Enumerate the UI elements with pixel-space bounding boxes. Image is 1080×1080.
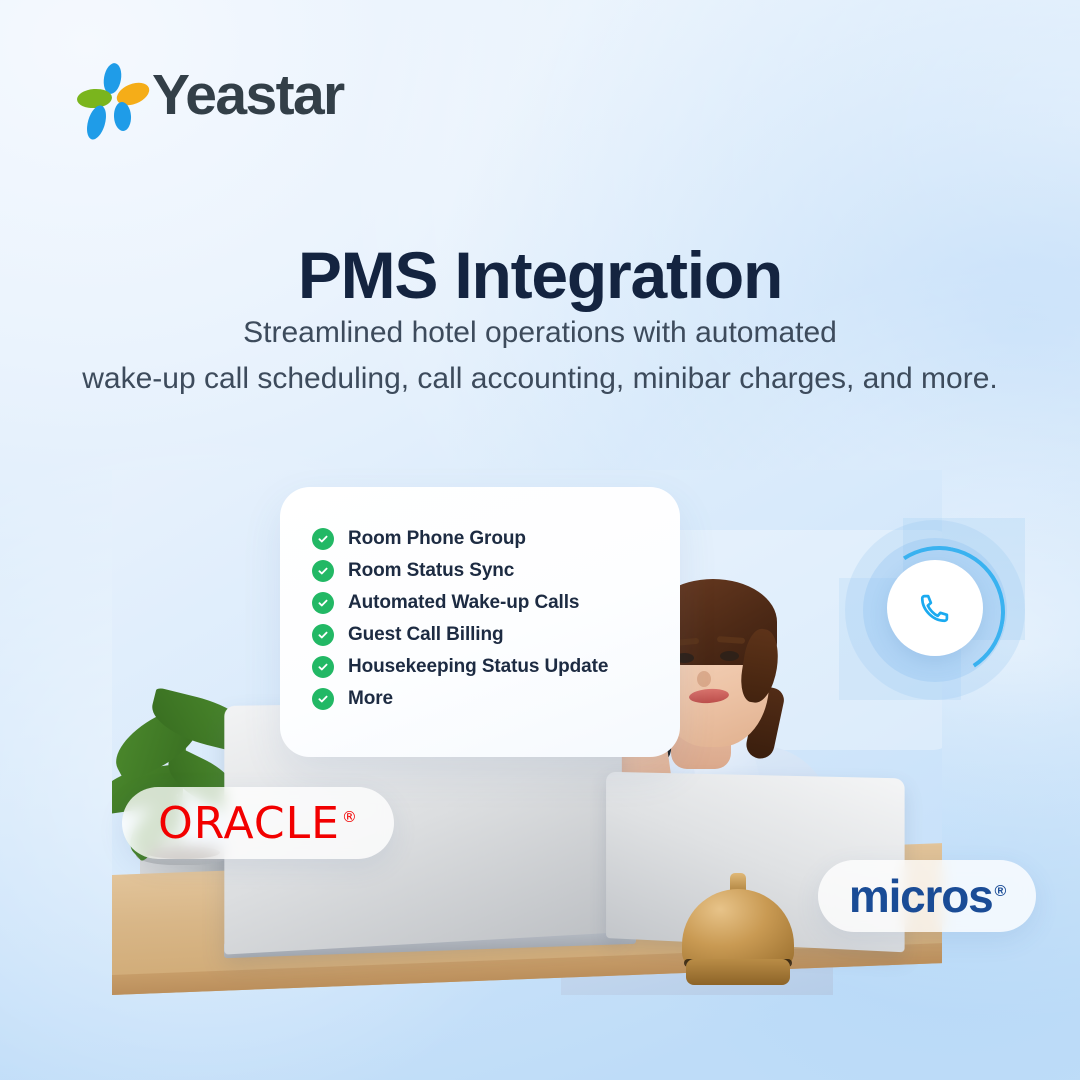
- oracle-name: ORACLE: [158, 798, 340, 849]
- check-circle-icon: [312, 560, 334, 582]
- registered-mark-icon: ®: [995, 883, 1006, 900]
- check-circle-icon: [312, 656, 334, 678]
- partner-badge-micros[interactable]: micros®: [818, 860, 1036, 932]
- phone-handset-icon: [918, 591, 952, 625]
- check-circle-icon: [312, 688, 334, 710]
- check-circle-icon: [312, 592, 334, 614]
- page-title: PMS Integration: [0, 240, 1080, 311]
- logo-petal-green-icon: [76, 88, 112, 109]
- logo-petal-bottom-left-icon: [84, 103, 110, 141]
- list-item-label: Automated Wake-up Calls: [348, 592, 579, 614]
- check-circle-icon: [312, 624, 334, 646]
- yeastar-flower-icon: [78, 62, 140, 128]
- person-eye-right: [720, 651, 739, 661]
- list-item[interactable]: Guest Call Billing: [312, 624, 608, 646]
- list-item-label: Room Phone Group: [348, 528, 526, 550]
- list-item-label: More: [348, 688, 393, 710]
- person-nose: [697, 671, 711, 687]
- micros-name: micros: [849, 870, 993, 922]
- page-subtitle: Streamlined hotel operations with automa…: [0, 310, 1080, 402]
- service-bell-base: [686, 959, 790, 985]
- logo-petal-bottom-right-icon: [113, 102, 131, 132]
- phone-badge: [845, 520, 1025, 700]
- list-item[interactable]: Room Phone Group: [312, 528, 608, 550]
- list-item[interactable]: Room Status Sync: [312, 560, 608, 582]
- list-item[interactable]: More: [312, 688, 608, 710]
- promo-banner: Yeastar PMS Integration Streamlined hote…: [0, 0, 1080, 1080]
- subtitle-line-2: wake-up call scheduling, call accounting…: [0, 356, 1080, 402]
- list-item-label: Room Status Sync: [348, 560, 514, 582]
- list-item[interactable]: Automated Wake-up Calls: [312, 592, 608, 614]
- feature-list: Room Phone Group Room Status Sync Automa…: [312, 528, 608, 710]
- phone-icon-circle[interactable]: [887, 560, 983, 656]
- partner-badge-oracle[interactable]: ORACLE®: [122, 787, 394, 859]
- list-item-label: Guest Call Billing: [348, 624, 504, 646]
- list-item[interactable]: Housekeeping Status Update: [312, 656, 608, 678]
- brand-logo[interactable]: Yeastar: [78, 62, 344, 128]
- registered-mark-icon: ®: [342, 808, 358, 826]
- check-circle-icon: [312, 528, 334, 550]
- subtitle-line-1: Streamlined hotel operations with automa…: [0, 310, 1080, 356]
- brand-wordmark: Yeastar: [152, 67, 344, 124]
- oracle-wordmark: ORACLE®: [158, 798, 358, 849]
- micros-wordmark: micros®: [849, 869, 1005, 923]
- list-item-label: Housekeeping Status Update: [348, 656, 608, 678]
